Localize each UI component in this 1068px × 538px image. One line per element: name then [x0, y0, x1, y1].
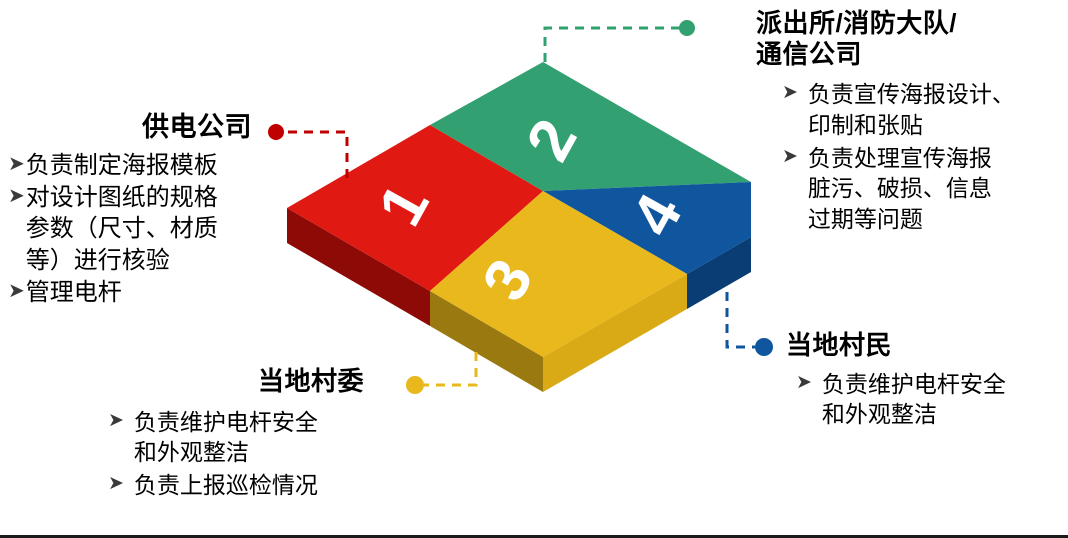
bullet-arrow-icon: ➤	[782, 143, 798, 172]
bullet-arrow-icon: ➤	[782, 79, 798, 108]
role-bullets-police-fire-telecom: ➤ 负责宣传海报设计、 印制和张贴 ➤ 负责处理宣传海报 脏污、破损、信息 过期…	[756, 79, 1062, 234]
bullet-item: ➤ 负责上报巡检情况	[108, 470, 420, 501]
bullet-text: 负责制定海报模板	[26, 150, 218, 182]
bullet-arrow-icon: ➤	[8, 277, 25, 306]
role-bullets-power-company: ➤ 负责制定海报模板 ➤ 对设计图纸的规格 参数（尺寸、材质 等）进行核验 ➤ …	[8, 150, 276, 308]
bullet-text: 负责宣传海报设计、 印制和张贴	[808, 79, 1015, 140]
bullet-item: ➤ 负责处理宣传海报 脏污、破损、信息 过期等问题	[782, 143, 1062, 235]
bullet-text: 负责处理宣传海报 脏污、破损、信息 过期等问题	[808, 143, 992, 235]
role-bullets-local-villagers: ➤ 负责维护电杆安全 和外观整洁	[786, 369, 1062, 430]
bullet-arrow-icon: ➤	[8, 150, 25, 179]
bullet-text: 管理电杆	[26, 277, 122, 309]
role-block-police-fire-telecom: 派出所/消防大队/ 通信公司 ➤ 负责宣传海报设计、 印制和张贴 ➤ 负责处理宣…	[756, 8, 1062, 236]
bullet-item: ➤ 对设计图纸的规格 参数（尺寸、材质 等）进行核验	[8, 182, 276, 277]
role-title-police-fire-telecom: 派出所/消防大队/ 通信公司	[756, 8, 1062, 69]
bullet-text: 负责维护电杆安全 和外观整洁	[134, 407, 318, 468]
role-block-local-villagers: 当地村民 ➤ 负责维护电杆安全 和外观整洁	[786, 330, 1062, 430]
bullet-item: ➤ 管理电杆	[8, 277, 276, 309]
bullet-arrow-icon: ➤	[796, 369, 812, 398]
role-block-power-company: 供电公司 ➤ 负责制定海报模板 ➤ 对设计图纸的规格 参数（尺寸、材质 等）进行…	[8, 112, 276, 308]
bullet-text: 负责维护电杆安全 和外观整洁	[822, 369, 1006, 430]
bullet-arrow-icon: ➤	[8, 182, 25, 211]
bullet-arrow-icon: ➤	[108, 470, 124, 499]
role-block-village-committee: 当地村委 ➤ 负责维护电杆安全 和外观整洁 ➤ 负责上报巡检情况	[90, 366, 420, 502]
role-title-power-company: 供电公司	[8, 112, 276, 144]
bullet-text: 对设计图纸的规格 参数（尺寸、材质 等）进行核验	[26, 182, 218, 277]
slide-canvas: 1 2 3 4 供电公司 ➤ 负责制定海报模板 ➤	[0, 0, 1068, 538]
bullet-item: ➤ 负责制定海报模板	[8, 150, 276, 182]
bullet-item: ➤ 负责维护电杆安全 和外观整洁	[796, 369, 1062, 430]
bullet-arrow-icon: ➤	[108, 407, 124, 436]
role-title-local-villagers: 当地村民	[786, 330, 1062, 361]
role-title-village-committee: 当地村委	[90, 366, 420, 397]
bullet-text: 负责上报巡检情况	[134, 470, 318, 501]
isometric-quadrant-diagram: 1 2 3 4	[270, 40, 770, 410]
role-bullets-village-committee: ➤ 负责维护电杆安全 和外观整洁 ➤ 负责上报巡检情况	[90, 407, 420, 501]
bullet-item: ➤ 负责维护电杆安全 和外观整洁	[108, 407, 420, 468]
bullet-item: ➤ 负责宣传海报设计、 印制和张贴	[782, 79, 1062, 140]
connector-dot-green	[679, 20, 695, 36]
final-isometric-block: 1 2 3 4	[270, 40, 770, 410]
